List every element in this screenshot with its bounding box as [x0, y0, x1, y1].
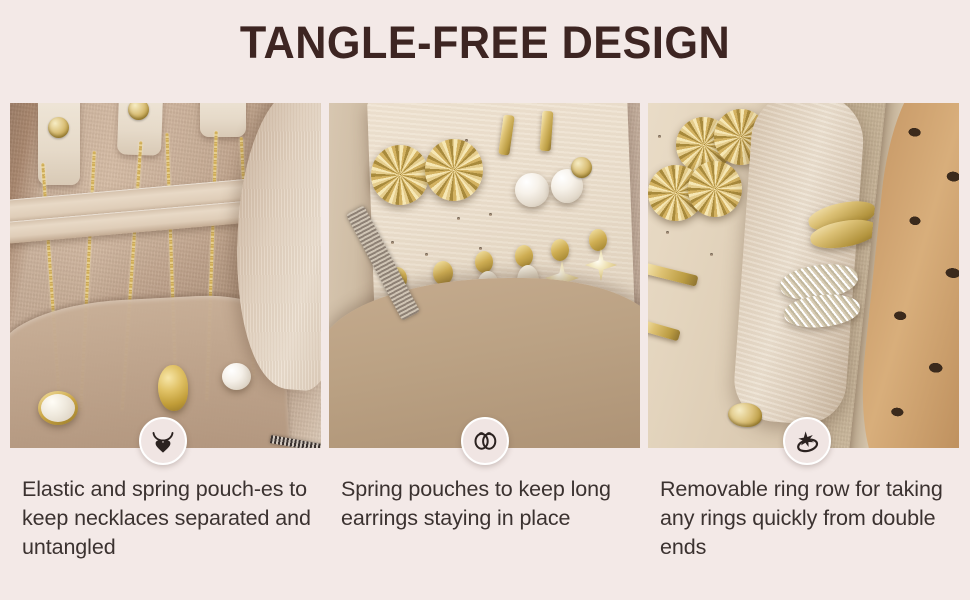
feature-badge-rings: [783, 417, 831, 465]
leather-tab: [200, 103, 246, 137]
coin-pearl-drop: [515, 173, 549, 207]
twisted-hoop-earring: [425, 139, 483, 201]
feature-badge-necklace: [139, 417, 187, 465]
feature-caption-row: Elastic and spring pouch-es to keep neck…: [10, 475, 960, 562]
twisted-hoop-earring: [688, 161, 742, 217]
hoop-earrings-icon: [470, 426, 500, 456]
pearl-pendant: [222, 363, 251, 390]
feature-image-earrings: [329, 103, 640, 448]
pearl-pendant: [38, 391, 78, 425]
huggie-hoop: [515, 245, 533, 267]
gold-stud: [48, 117, 69, 138]
feature-caption-earrings: Spring pouches to keep long earrings sta…: [329, 475, 640, 562]
ring-roll: [732, 103, 867, 427]
necklace-heart-pendant-icon: [148, 426, 178, 456]
gold-stud: [571, 157, 592, 178]
gold-disc: [728, 403, 762, 427]
feature-badge-earrings: [461, 417, 509, 465]
huggie-hoop: [475, 251, 493, 273]
feature-image-necklaces: [10, 103, 321, 448]
feature-caption-rings: Removable ring row for taking any rings …: [648, 475, 959, 562]
feature-image-row: [10, 103, 960, 448]
huggie-hoop: [551, 239, 569, 261]
twisted-hoop-earring: [371, 145, 429, 205]
diamond-ring-icon: [792, 426, 822, 456]
feature-caption-necklaces: Elastic and spring pouch-es to keep neck…: [10, 475, 321, 562]
gold-coin-pendant: [158, 365, 188, 411]
page-title: TANGLE-FREE DESIGN: [19, 18, 950, 68]
feature-image-rings: [648, 103, 959, 448]
huggie-hoop: [589, 229, 607, 251]
